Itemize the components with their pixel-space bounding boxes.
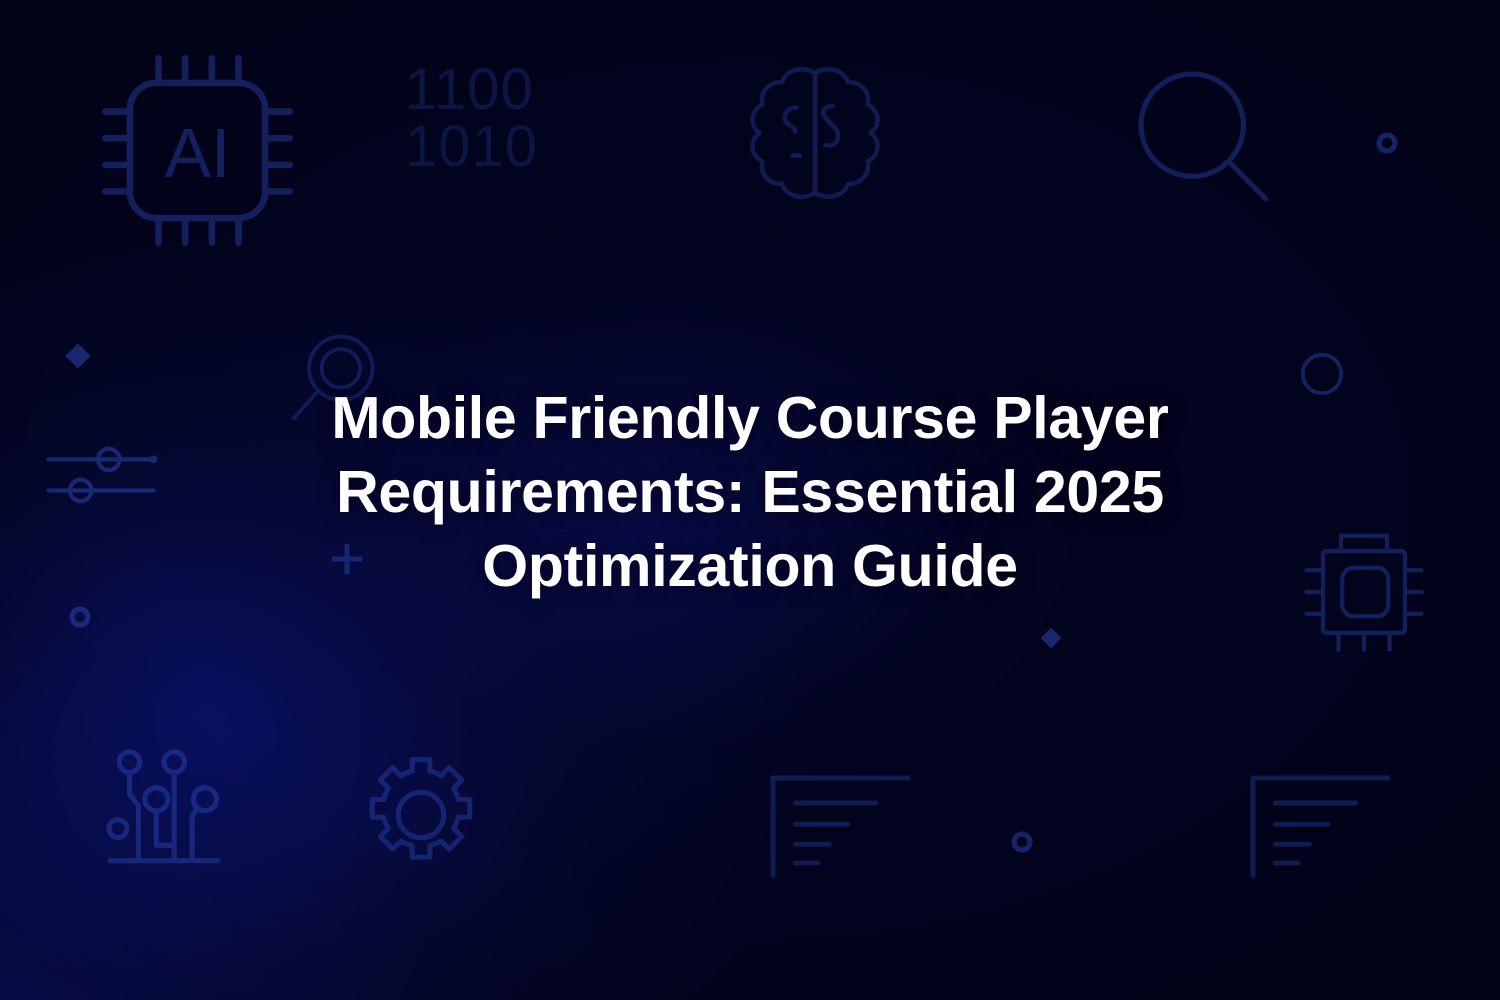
page-title: Mobile Friendly Course Player Requiremen… <box>270 381 1230 604</box>
headline-container: Mobile Friendly Course Player Requiremen… <box>0 0 1500 1000</box>
hero-banner: AI 1100 1010 <box>0 0 1500 1000</box>
